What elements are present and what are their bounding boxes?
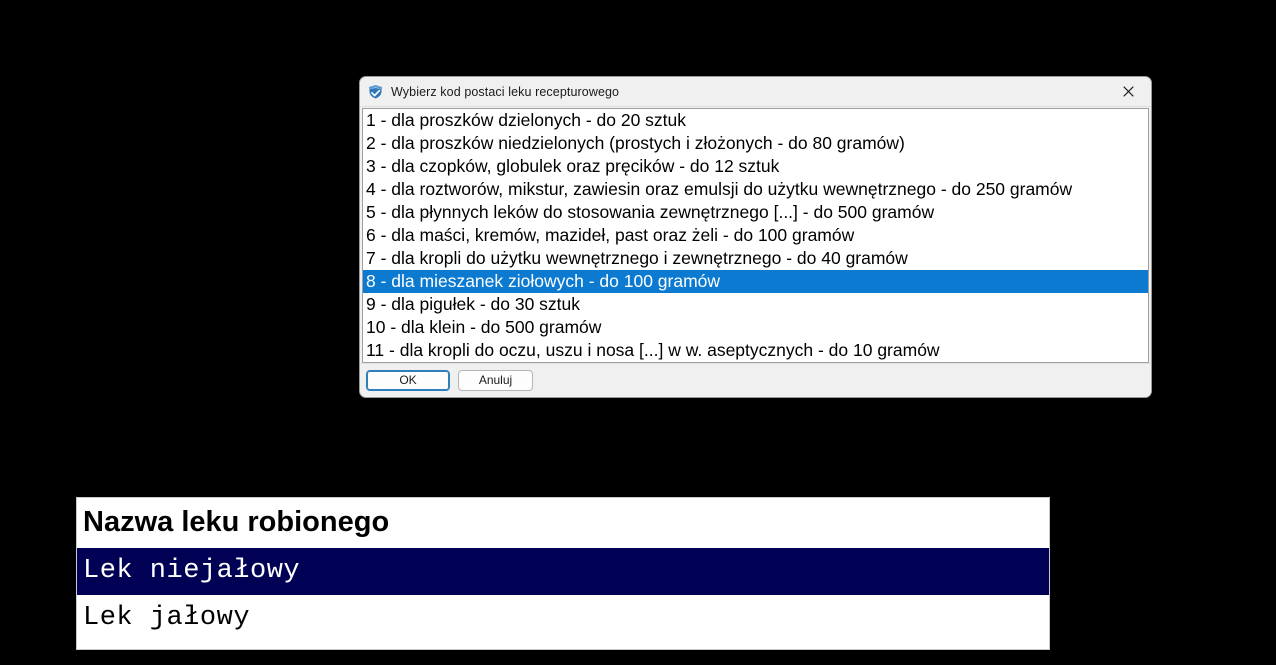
panel-title: Nazwa leku robionego	[77, 498, 1049, 548]
list-item[interactable]: 11 - dla kropli do oczu, uszu i nosa [..…	[363, 339, 1148, 362]
list-item[interactable]: 1 - dla proszków dzielonych - do 20 sztu…	[363, 109, 1148, 132]
dialog-title: Wybierz kod postaci leku recepturowego	[391, 85, 619, 99]
code-picker-dialog: Wybierz kod postaci leku recepturowego 1…	[359, 76, 1152, 398]
list-item[interactable]: 8 - dla mieszanek ziołowych - do 100 gra…	[363, 270, 1148, 293]
list-item[interactable]: Lek jałowy	[77, 595, 1049, 642]
list-item[interactable]: 3 - dla czopków, globulek oraz pręcików …	[363, 155, 1148, 178]
dialog-footer: OK Anuluj	[360, 363, 1151, 397]
drug-type-list[interactable]: Lek niejałowyLek jałowy	[77, 548, 1049, 642]
list-item[interactable]: 4 - dla roztworów, mikstur, zawiesin ora…	[363, 178, 1148, 201]
list-item[interactable]: 10 - dla klein - do 500 gramów	[363, 316, 1148, 339]
cancel-button[interactable]: Anuluj	[458, 370, 533, 391]
list-item[interactable]: 6 - dla maści, kremów, mazideł, past ora…	[363, 224, 1148, 247]
list-item[interactable]: Lek niejałowy	[77, 548, 1049, 595]
drug-name-panel: Nazwa leku robionego Lek niejałowyLek ja…	[76, 497, 1050, 650]
app-shield-icon	[367, 83, 384, 100]
dialog-titlebar[interactable]: Wybierz kod postaci leku recepturowego	[360, 77, 1151, 107]
list-item[interactable]: 7 - dla kropli do użytku wewnętrznego i …	[363, 247, 1148, 270]
close-icon[interactable]	[1106, 77, 1151, 105]
list-item[interactable]: 2 - dla proszków niedzielonych (prostych…	[363, 132, 1148, 155]
code-list[interactable]: 1 - dla proszków dzielonych - do 20 sztu…	[363, 109, 1148, 362]
list-item[interactable]: 9 - dla pigułek - do 30 sztuk	[363, 293, 1148, 316]
ok-button[interactable]: OK	[366, 370, 450, 391]
code-list-scroll[interactable]: 1 - dla proszków dzielonych - do 20 sztu…	[362, 108, 1149, 363]
list-item[interactable]: 5 - dla płynnych leków do stosowania zew…	[363, 201, 1148, 224]
